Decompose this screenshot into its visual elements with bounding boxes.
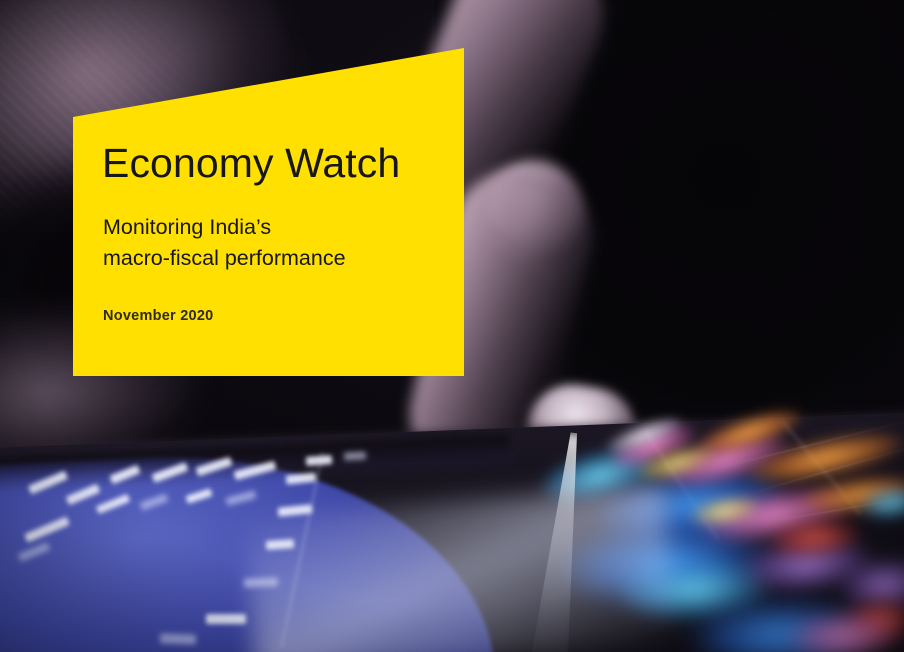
page-title: Economy Watch <box>102 142 400 185</box>
screen-glare-broad <box>245 486 675 652</box>
publication-date: November 2020 <box>103 308 213 324</box>
page-subtitle: Monitoring India’s macro-fiscal performa… <box>103 212 346 273</box>
report-cover-page: Economy Watch Monitoring India’s macro-f… <box>0 0 904 652</box>
